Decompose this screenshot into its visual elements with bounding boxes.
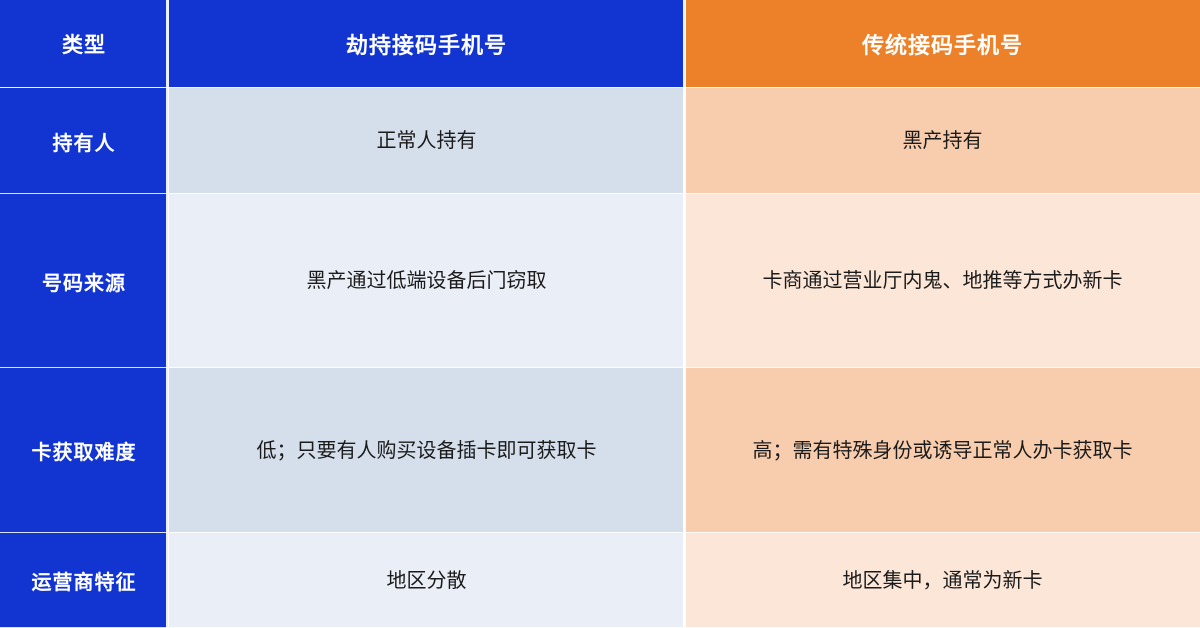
cell-hijacked-number-source: 黑产通过低端设备后门窃取 <box>168 194 685 368</box>
row-label-carrier-feature: 运营商特征 <box>0 533 168 628</box>
row-label-card-difficulty: 卡获取难度 <box>0 368 168 533</box>
cell-text: 正常人持有 <box>377 127 477 155</box>
cell-text: 高；需有特殊身份或诱导正常人办卡获取卡 <box>753 437 1133 465</box>
row-label-number-source: 号码来源 <box>0 194 168 368</box>
cell-traditional-number-source: 卡商通过营业厅内鬼、地推等方式办新卡 <box>685 194 1200 368</box>
cell-traditional-card-difficulty: 高；需有特殊身份或诱导正常人办卡获取卡 <box>685 368 1200 533</box>
comparison-table: 威胁猎人 THREAT HUNTER 类型 劫持接码手机号 传统接码手机号 持有… <box>0 0 1200 628</box>
cell-text: 低；只要有人购买设备插卡即可获取卡 <box>257 437 597 465</box>
cell-hijacked-carrier-feature: 地区分散 <box>168 533 685 628</box>
cell-text: 黑产持有 <box>903 127 983 155</box>
cell-text: 地区集中，通常为新卡 <box>843 567 1043 595</box>
cell-text: 地区分散 <box>387 567 467 595</box>
cell-traditional-holder: 黑产持有 <box>685 88 1200 194</box>
header-cell-traditional: 传统接码手机号 <box>685 0 1200 88</box>
cell-text: 黑产通过低端设备后门窃取 <box>307 267 547 295</box>
header-cell-hijacked: 劫持接码手机号 <box>168 0 685 88</box>
cell-hijacked-holder: 正常人持有 <box>168 88 685 194</box>
cell-hijacked-card-difficulty: 低；只要有人购买设备插卡即可获取卡 <box>168 368 685 533</box>
cell-text: 卡商通过营业厅内鬼、地推等方式办新卡 <box>763 267 1123 295</box>
cell-traditional-carrier-feature: 地区集中，通常为新卡 <box>685 533 1200 628</box>
header-cell-type: 类型 <box>0 0 168 88</box>
row-label-holder: 持有人 <box>0 88 168 194</box>
